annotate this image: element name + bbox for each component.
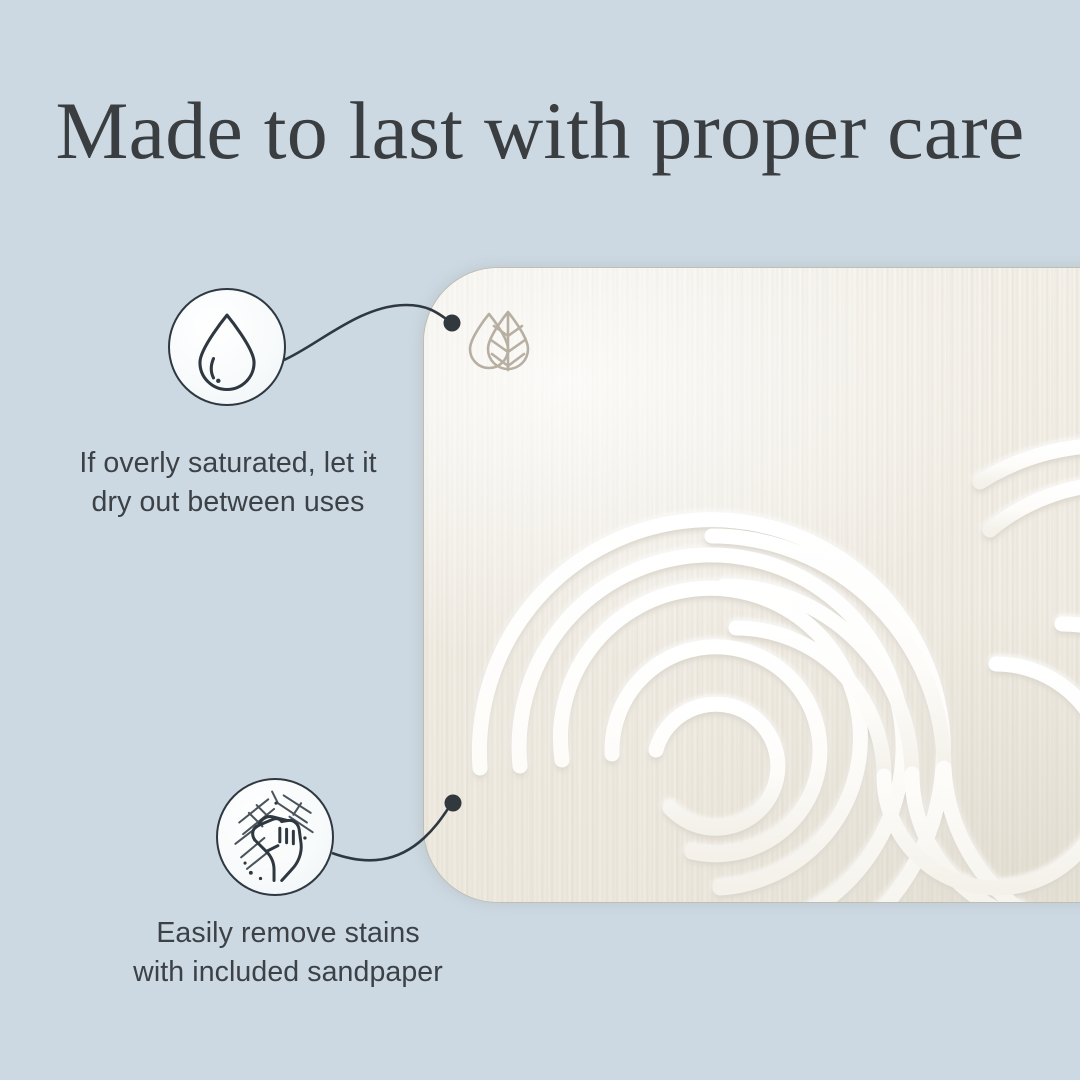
page-title: Made to last with proper care [0,88,1080,174]
hand-sanding-icon [216,778,334,896]
callout-caption-dry: If overly saturated, let it dry out betw… [18,444,438,522]
product-image [424,268,1080,902]
bath-mat-surface [424,268,1080,902]
promo-graphic: Made to last with proper care [0,0,1080,1080]
leaf-droplet-logo-icon [464,304,534,376]
water-droplet-icon [168,288,286,406]
callout-caption-sand: Easily remove stains with included sandp… [78,914,498,992]
